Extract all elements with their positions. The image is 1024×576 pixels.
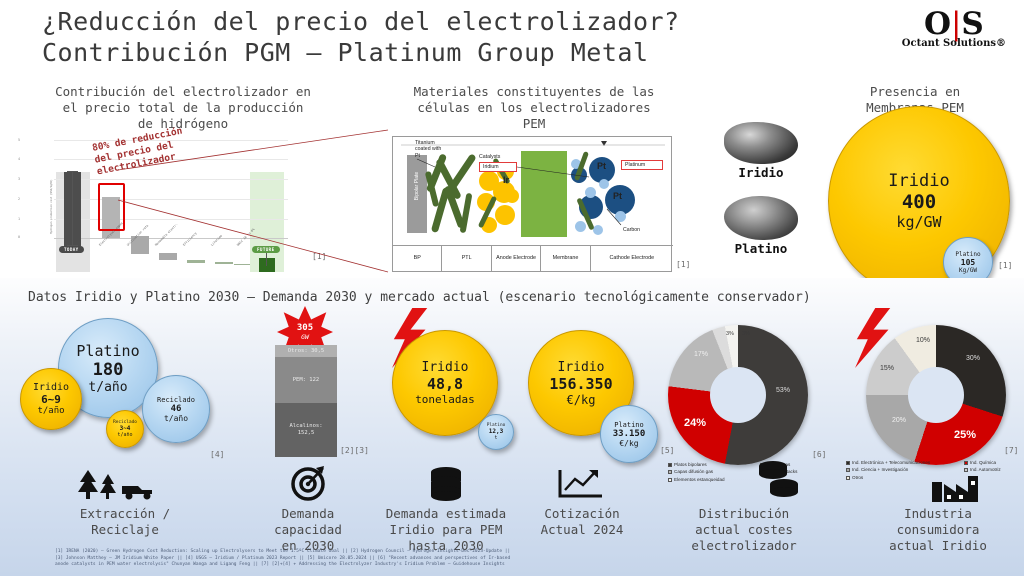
chart-gridline: [54, 219, 288, 220]
chart-ytick: 4: [18, 157, 20, 161]
iridio-precio-value: 156.350: [549, 375, 612, 393]
caption-price-l1: Cotización: [520, 506, 644, 522]
chart-heading-l3: de hidrógeno: [28, 116, 338, 132]
chart-gridline: [54, 179, 288, 180]
chart-bar: [234, 264, 250, 265]
target-arrow-icon: [288, 464, 328, 502]
platino-precio-unit: €/kg: [619, 439, 638, 448]
legend-label: Ind. Química: [970, 459, 996, 466]
legend-swatch: [668, 463, 672, 467]
capacity-segment-otros: Otros: 30,5: [275, 345, 337, 357]
chart-heading-l1: Contribución del electrolizador en: [28, 84, 338, 100]
legend-item-platos-bipolares[interactable]: Platos bipolares: [668, 461, 760, 468]
pem-footer-anode: Anode Electrode: [492, 246, 541, 271]
pem-layer-footer: BP PTL Anode Electrode Membrane Cathode …: [393, 245, 673, 271]
pem-heading-l3: PEM: [384, 116, 684, 132]
legend-swatch: [846, 461, 850, 465]
caption-cost-distribution-l1: Distribución: [660, 506, 828, 522]
panel-pem-presence: Presencia en Membranas PEM Iridio Platin…: [700, 84, 1024, 116]
logo-mark: O|S: [902, 8, 1006, 40]
chart-ytick: 2: [18, 197, 20, 201]
presence-platinum-unit: Kg/GW: [959, 267, 977, 274]
chart-bar: [159, 253, 177, 260]
caption-extraction: Extracción / Reciclaje: [40, 506, 210, 538]
pem-footer-ptl: PTL: [442, 246, 491, 271]
chart-gridline: [54, 238, 288, 239]
reciclado-46-value: 46: [171, 404, 182, 414]
platino-123-unit: t: [494, 435, 497, 441]
chart-bar-future: [259, 258, 275, 272]
chart-pill-future: FUTURE: [252, 246, 280, 253]
industry-label-15: 15%: [880, 365, 894, 372]
coins-icon: [754, 458, 802, 502]
caption-cost-distribution-l2: actual costes: [660, 522, 828, 538]
reciclado-34-unit: t/año: [117, 432, 132, 438]
logo-letter-s: S: [961, 6, 983, 42]
industry-label-20: 20%: [892, 417, 906, 424]
iridio-69-bubble: Iridio 6~9 t/año: [20, 368, 82, 430]
legend-label: Ind. Electrónica + Telecomunicaciones: [852, 459, 930, 466]
chart-bar: [215, 262, 233, 264]
chart-ytick: 1: [18, 217, 20, 221]
caption-extraction-l2: Reciclaje: [40, 522, 210, 538]
cost-label-24: 24%: [684, 417, 706, 429]
company-logo: O|S Octant Solutions®: [902, 8, 1006, 49]
legend-swatch: [668, 478, 672, 482]
caption-capacity-l1: Demanda: [243, 506, 373, 522]
reciclado-34-bubble: Reciclado 3~4 t/año: [106, 410, 144, 448]
cost-distribution-legend: Platos bipolares Membranas Capas difusió…: [668, 461, 836, 483]
legend-label: Platos bipolares: [674, 461, 707, 468]
title-line-1: ¿Reducción del precio del electrolizador…: [42, 6, 862, 37]
caption-industry: Industria consumidora actual Iridio: [862, 506, 1014, 554]
cost-label-3b: 3%: [742, 331, 750, 337]
reciclado-46-bubble: Reciclado 46 t/año: [142, 375, 210, 443]
caption-extraction-l1: Extracción /: [40, 506, 210, 522]
presence-reference: [1]: [998, 261, 1012, 270]
legend-row: Platos bipolares Membranas: [668, 461, 836, 468]
presence-platinum-value: 105: [961, 258, 975, 267]
legend-swatch: [846, 468, 850, 472]
cost-label-3a: 3%: [726, 331, 734, 337]
legend-item-otros[interactable]: Otros: [846, 474, 863, 481]
platinum-sample: Platino: [724, 196, 798, 256]
caption-industry-l1: Industria: [862, 506, 1014, 522]
legend-label: Ind. Ciencia + Investigación: [852, 466, 908, 473]
legend-item-elementos-estanqueidad[interactable]: Elementos estanqueidad: [668, 476, 725, 483]
capacity-stacked-bar: Otros: 30,5 PEM: 122 Alcalinos: 152,5: [275, 345, 337, 457]
iridium-rock-label: Iridio: [724, 165, 798, 180]
pem-heading: Materiales constituyentes de las células…: [384, 84, 684, 132]
caption-iridium-demand-l2: Iridio para PEM: [370, 522, 522, 538]
caption-price: Cotización Actual 2024: [520, 506, 644, 538]
caption-capacity: Demanda capacidad en 2030: [243, 506, 373, 554]
presence-iridium-unit: kg/GW: [896, 213, 941, 231]
platino-180-value: 180: [93, 360, 124, 380]
caption-price-l2: Actual 2024: [520, 522, 644, 538]
iridio-precio-unit: €/kg: [567, 393, 596, 407]
pem-heading-l2: células en los electrolizadores: [384, 100, 684, 116]
platino-precio-bubble: Platino 33.150 €/kg: [600, 405, 658, 463]
footnote-line-3: anode catalysts in PEM water electrolysi…: [55, 562, 975, 569]
pem-leader-lines: [393, 137, 673, 247]
logo-letter-o: O: [924, 6, 951, 42]
slide-root: ¿Reducción del precio del electrolizador…: [0, 0, 1024, 576]
pem-footer-membrane: Membrane: [541, 246, 590, 271]
cost-donut-hole: [710, 367, 766, 423]
cost-label-53: 53%: [776, 387, 790, 394]
footnotes: [1] IRENA (2020) – Green Hydrogen Cost R…: [55, 549, 975, 569]
capacity-star-unit: GW: [301, 333, 309, 341]
legend-label: Elementos estanqueidad: [674, 476, 725, 483]
bottom-banner-title: Datos Iridio y Platino 2030 – Demanda 20…: [28, 290, 1008, 305]
factory-icon: [928, 468, 980, 502]
platinum-rock-label: Platino: [724, 241, 798, 256]
platino-180-unit: t/año: [88, 380, 127, 395]
pem-footer-cathode: Cathode Electrode: [591, 246, 673, 271]
legend-swatch: [846, 476, 850, 480]
capacity-segment-alcalinos-label: Alcalinos: 152,5: [289, 423, 322, 437]
iridio-488-value: 48,8: [427, 375, 463, 393]
platino-precio-value: 33.150: [613, 429, 646, 439]
chart-heading-l2: el precio total de la producción: [28, 100, 338, 116]
legend-row: Elementos estanqueidad: [668, 476, 836, 483]
page-title: ¿Reducción del precio del electrolizador…: [42, 6, 862, 68]
cost-distribution-reference: [6]: [812, 450, 826, 459]
caption-iridium-demand: Demanda estimada Iridio para PEM hasta 2…: [370, 506, 522, 554]
chart-bar: [187, 260, 205, 263]
presence-iridium-value: 400: [902, 191, 936, 213]
slide-header: ¿Reducción del precio del electrolizador…: [0, 0, 1024, 72]
pem-diagram-body: Bipolar Plate Ir: [393, 137, 673, 247]
chart-ytick: 5: [18, 138, 20, 142]
chart-gridline: [54, 199, 288, 200]
chart-xlabel: Lifetime: [210, 234, 223, 247]
footnote-line-1: [1] IRENA (2020) – Green Hydrogen Cost R…: [55, 549, 975, 556]
capacity-segment-alcalinos: Alcalinos: 152,5: [275, 403, 337, 457]
legend-item-capas-difusion[interactable]: Capas difusión gas: [668, 468, 760, 475]
iridium-rock-image: [724, 122, 798, 164]
caption-iridium-demand-l1: Demanda estimada: [370, 506, 522, 522]
iridio-488-unit: toneladas: [415, 393, 475, 406]
legend-item-electronica[interactable]: Ind. Electrónica + Telecomunicaciones: [846, 459, 964, 466]
presence-heading-l1: Presencia en: [820, 84, 1010, 100]
chart-ytick: 3: [18, 177, 20, 181]
panel-cost-chart: Contribución del electrolizador en el pr…: [28, 84, 338, 272]
reciclado-46-name: Reciclado: [157, 396, 195, 404]
platino-180-name: Platino: [76, 342, 139, 360]
legend-label: Otros: [852, 474, 863, 481]
panel-pem-materials: Materiales constituyentes de las células…: [384, 84, 684, 272]
chart-errorbar-cap: [67, 171, 78, 172]
pem-cell-diagram: Bipolar Plate Ir: [392, 136, 672, 272]
legend-swatch: [964, 461, 968, 465]
reciclado-34-value: 3~4: [120, 425, 131, 432]
platino-precio-name: Platino: [614, 421, 644, 429]
pem-footer-bp: BP: [393, 246, 442, 271]
capacity-segment-pem-label: PEM: 122: [293, 377, 320, 384]
chart-xlabel: Renewable electr.: [154, 222, 179, 247]
capacity-segment-otros-label: Otros: 30,5: [288, 348, 324, 355]
reciclado-46-unit: t/año: [164, 414, 188, 423]
logo-bar: |: [951, 6, 961, 42]
legend-label: Capas difusión gas: [674, 468, 713, 475]
iridio-69-unit: t/año: [37, 406, 64, 416]
chart-ytick: 0: [18, 235, 20, 239]
legend-item-quimica[interactable]: Ind. Química: [964, 459, 996, 466]
platino-123-bubble: Platino 12,3 t: [478, 414, 514, 450]
capacity-reference: [2][3]: [340, 446, 369, 455]
iridio-precio-name: Iridio: [558, 360, 605, 375]
legend-row: Capas difusión gas Montaje Stacks: [668, 468, 836, 475]
industry-donut-hole: [908, 367, 964, 423]
pem-reference: [1]: [676, 260, 690, 269]
industry-reference: [7]: [1004, 446, 1018, 455]
chart-reference: [1]: [312, 252, 326, 261]
logo-wordmark: Octant Solutions®: [902, 38, 1006, 49]
chart-y-axis-label: Hydrogen production cost (USD/kgH2): [50, 154, 53, 234]
title-line-2: Contribución PGM – Platinum Group Metal: [42, 37, 862, 68]
capacity-star-value: 305: [297, 323, 313, 333]
platino-123-value: 12,3: [489, 428, 503, 435]
pem-heading-l1: Materiales constituyentes de las: [384, 84, 684, 100]
caption-industry-l2: consumidora: [862, 522, 1014, 538]
iridio-488-name: Iridio: [422, 360, 469, 375]
extraction-reference: [4]: [210, 450, 224, 459]
caption-cost-distribution: Distribución actual costes electrolizado…: [660, 506, 828, 554]
chart-errorbar-today: [72, 171, 73, 246]
cost-label-17: 17%: [694, 351, 708, 358]
iridium-sample: Iridio: [724, 122, 798, 180]
database-icon: [424, 466, 468, 502]
chart-up-icon: [556, 466, 604, 502]
industry-label-25: 25%: [954, 429, 976, 441]
industry-label-10: 10%: [916, 337, 930, 344]
caption-capacity-l2: capacidad: [243, 522, 373, 538]
trees-truck-icon: [72, 468, 164, 502]
chart-pill-today: TODAY: [59, 246, 84, 253]
presence-platinum-name: Platino: [955, 251, 980, 258]
capacity-segment-pem: PEM: 122: [275, 357, 337, 403]
legend-row: Ind. Electrónica + Telecomunicaciones In…: [846, 459, 1024, 466]
chart-heading: Contribución del electrolizador en el pr…: [28, 84, 338, 132]
presence-iridium-name: Iridio: [888, 171, 949, 191]
platinum-rock-image: [724, 196, 798, 240]
legend-swatch: [668, 470, 672, 474]
iridio-69-name: Iridio: [33, 382, 69, 393]
cost-distribution-donut: 53% 24% 17% 3% 3%: [668, 325, 808, 465]
industry-donut: 30% 25% 20% 15% 10%: [866, 325, 1006, 465]
chart-xlabel: Efficiency: [182, 231, 198, 247]
iridio-69-value: 6~9: [41, 393, 61, 406]
chart-band-future: [250, 172, 284, 272]
industry-label-30: 30%: [966, 355, 980, 362]
